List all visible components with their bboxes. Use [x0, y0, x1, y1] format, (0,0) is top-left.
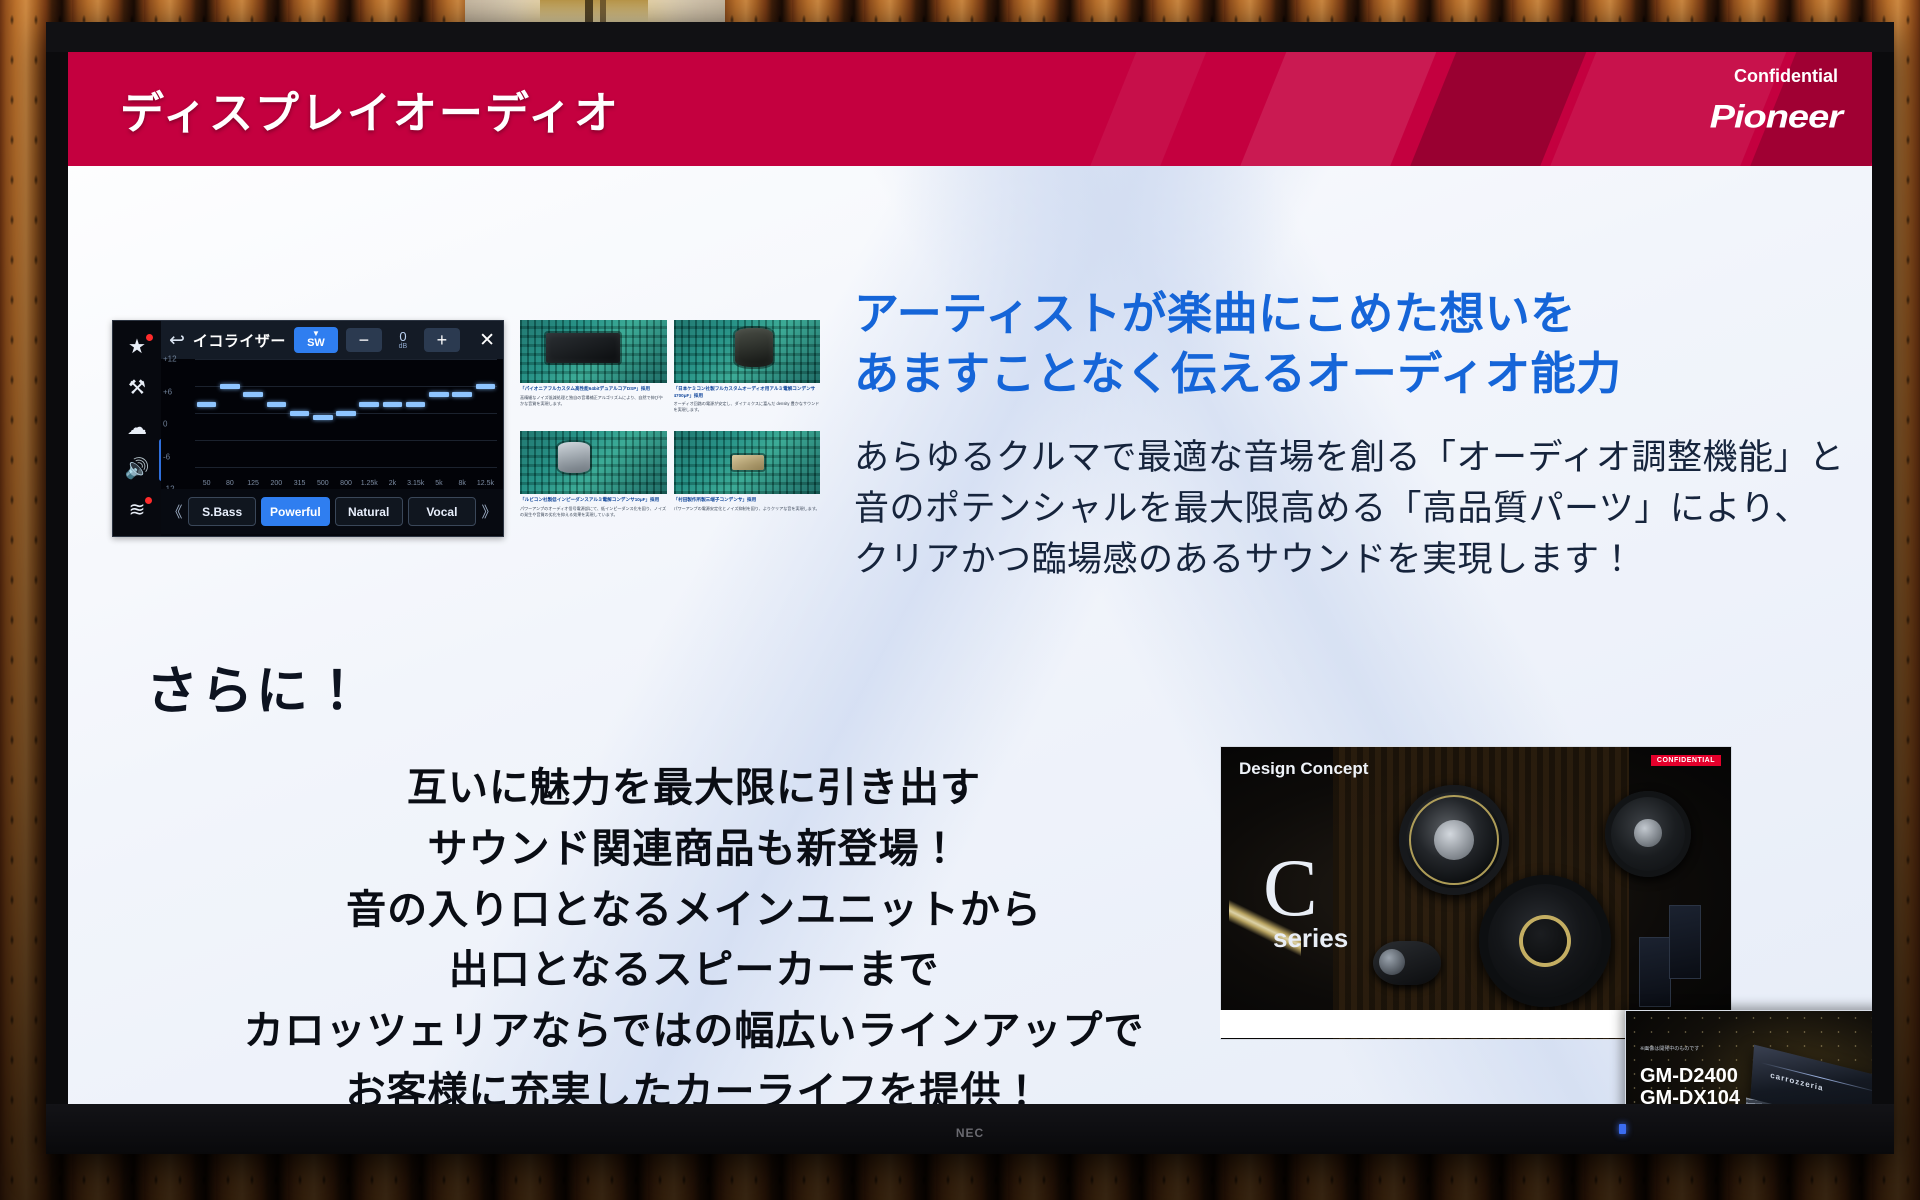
eq-toolbar: ↩ イコライザー ▼ SW − 0 dB +: [161, 321, 503, 359]
bezel-bottom: NEC: [46, 1104, 1894, 1154]
eq-band-handle[interactable]: [267, 402, 287, 407]
eq-band-handle[interactable]: [452, 392, 472, 397]
eq-y-tick: 0: [163, 420, 167, 429]
eq-freq-label: 500: [311, 480, 334, 487]
big-copy-line-2: サウンド関連商品も新登場！: [164, 819, 1224, 880]
presentation-slide: ディスプレイオーディオ Confidential Pioneer ★ ⚒ ☁ 🔊…: [68, 52, 1872, 1104]
eq-band-80[interactable]: [218, 359, 241, 467]
eq-frequency-labels: 50801252003155008001.25k2k3.15k5k8k12.5k: [195, 480, 497, 487]
eq-title: イコライザー: [193, 330, 286, 351]
big-copy-block: 互いに魅力を最大限に引き出すサウンド関連商品も新登場！音の入り口となるメインユニ…: [164, 758, 1224, 1104]
body-copy-line-2: 音のポテンシャルを最大限高める「高品質パーツ」により、: [854, 483, 1864, 534]
display-brand-label: NEC: [956, 1126, 984, 1140]
eq-band-handle[interactable]: [313, 415, 333, 420]
pioneer-logo: Pioneer: [1710, 99, 1842, 136]
eq-preset-s-bass[interactable]: S.Bass: [188, 497, 256, 526]
eq-gridline: [195, 467, 497, 468]
eq-freq-label: 50: [195, 480, 218, 487]
photo-card-4: 「村田製作所製三端子コンデンサ」採用パワーアンプの電源安定化とノイズ抑制を図り、…: [674, 431, 821, 535]
amp-model-2: GM-DX104: [1640, 1087, 1740, 1104]
eq-band-sliders[interactable]: [195, 359, 497, 467]
lead-heading-line-1: アーティストが楽曲にこめた想いを: [854, 284, 1854, 344]
big-copy-line-5: カロッツェリアならではの幅広いラインアップで: [164, 1001, 1224, 1062]
eq-band-handle[interactable]: [336, 411, 356, 416]
section-marker: さらに！: [146, 649, 366, 724]
eq-freq-label: 3.15k: [404, 480, 427, 487]
eq-preset-row[interactable]: 《S.BassPowerfulNaturalVocal》: [161, 489, 503, 534]
speaker-midrange-icon: [1399, 785, 1509, 895]
tweeter-icon: [1373, 941, 1441, 985]
eq-band-800[interactable]: [334, 359, 357, 467]
eq-band-3.15k[interactable]: [404, 359, 427, 467]
photo-body-text: 高精細なノイズ低減処理と独自の音場補正アルゴリズムにより、自然で伸びやかな音質を…: [520, 395, 667, 407]
eq-freq-label: 5k: [427, 480, 450, 487]
eq-band-handle[interactable]: [476, 384, 496, 389]
nec-display: ディスプレイオーディオ Confidential Pioneer ★ ⚒ ☁ 🔊…: [46, 22, 1894, 1154]
circuit-board-photo: [520, 431, 667, 494]
eq-band-handle[interactable]: [197, 402, 217, 407]
subwoofer-label: SW: [294, 338, 338, 350]
design-concept-label: Design Concept: [1239, 759, 1368, 779]
eq-freq-label: 800: [334, 480, 357, 487]
circuit-board-photo: [520, 320, 667, 383]
eq-y-tick: -6: [163, 452, 170, 461]
photo-caption: 「ルビコン社製低インピーダンスアルミ電解コンデンサ10μF」採用: [520, 497, 667, 504]
eq-freq-label: 8k: [451, 480, 474, 487]
photo-caption: 「日本ケミコン社製フルカスタムオーディオ用アルミ電解コンデンサ4700μF」採用: [674, 386, 821, 399]
eq-main-panel: ↩ イコライザー ▼ SW − 0 dB +: [161, 321, 503, 536]
big-copy-line-6: お客様に充実したカーライフを提供！: [164, 1062, 1224, 1104]
eq-freq-label: 80: [218, 480, 241, 487]
eq-unit: dB: [390, 343, 416, 350]
amp-disclaimer: ※画像は開発中のものです: [1640, 1045, 1699, 1052]
c-series-label: series: [1273, 923, 1348, 954]
eq-preset-powerful[interactable]: Powerful: [261, 497, 329, 526]
eq-y-tick: +12: [163, 355, 177, 364]
eq-band-handle[interactable]: [243, 392, 263, 397]
equalizer-screenshot: ★ ⚒ ☁ 🔊 ≋ ↩ イコライザー ▼ SW: [112, 320, 504, 537]
eq-band-handle[interactable]: [406, 402, 426, 407]
eq-freq-label: 200: [265, 480, 288, 487]
eq-band-50[interactable]: [195, 359, 218, 467]
volume-icon[interactable]: 🔊: [125, 459, 150, 479]
big-copy-line-3: 音の入り口となるメインユニットから: [164, 880, 1224, 941]
component-photo-grid: 「パイオニアフルカスタム高性能64bitデュアルコアDSP」採用高精細なノイズ低…: [520, 320, 820, 535]
eq-band-200[interactable]: [265, 359, 288, 467]
circuit-board-photo: [674, 431, 821, 494]
eq-band-2k[interactable]: [381, 359, 404, 467]
photo-body-text: パワーアンプの電源安定化とノイズ抑制を図り、よりクリアな音を実現します。: [674, 506, 821, 512]
circuit-board-photo: [674, 320, 821, 383]
eq-preset-natural[interactable]: Natural: [335, 497, 403, 526]
photo-body-text: オーディオ回路の電源が安定し、ダイナミクスに富んだ density 豊かなサウン…: [674, 401, 821, 413]
eq-band-handle[interactable]: [220, 384, 240, 389]
body-copy-line-1: あらゆるクルマで最適な音場を創る「オーディオ調整機能」と: [854, 432, 1864, 483]
eq-side-rail: ★ ⚒ ☁ 🔊 ≋: [113, 321, 161, 536]
star-icon[interactable]: ★: [128, 337, 146, 357]
bezel-top: [46, 22, 1894, 52]
eq-band-handle[interactable]: [359, 402, 379, 407]
crossover-network-icon-2: [1669, 905, 1701, 979]
amp-model-names: GM-D2400 GM-DX104: [1640, 1065, 1740, 1104]
next-preset-icon[interactable]: 》: [481, 501, 497, 522]
back-arrow-icon[interactable]: ↩: [169, 329, 185, 352]
eq-band-12.5k[interactable]: [474, 359, 497, 467]
eq-band-125[interactable]: [241, 359, 264, 467]
body-copy-line-3: クリアかつ臨場感のあるサウンドを実現します！: [854, 534, 1864, 585]
decrement-button[interactable]: −: [346, 328, 382, 352]
subwoofer-channel-button[interactable]: ▼ SW: [294, 327, 338, 353]
photo-card-3: 「ルビコン社製低インピーダンスアルミ電解コンデンサ10μF」採用パワーアンプのオ…: [520, 431, 667, 535]
eq-graph[interactable]: 50801252003155008001.25k2k3.15k5k8k12.5k…: [161, 359, 503, 489]
eq-freq-label: 315: [288, 480, 311, 487]
page-title: ディスプレイオーディオ: [120, 77, 620, 141]
photo-scene: ディスプレイオーディオ Confidential Pioneer ★ ⚒ ☁ 🔊…: [0, 0, 1920, 1200]
crossover-network-icon: [1639, 937, 1671, 1007]
eye-icon[interactable]: ☁: [127, 418, 147, 438]
eq-freq-label: 12.5k: [474, 480, 497, 487]
eq-y-tick: +6: [163, 387, 172, 396]
eq-band-5k[interactable]: [427, 359, 450, 467]
photo-body-text: パワーアンプのオーディオ信号電源部にて、低インピーダンス化を図り、ノイズの発生や…: [520, 506, 667, 518]
eq-band-315[interactable]: [288, 359, 311, 467]
signal-icon[interactable]: ≋: [129, 500, 146, 520]
screen-area: ディスプレイオーディオ Confidential Pioneer ★ ⚒ ☁ 🔊…: [68, 52, 1872, 1104]
confidential-label: Confidential: [1734, 66, 1838, 87]
eq-freq-label: 1.25k: [358, 480, 381, 487]
eq-preset-vocal[interactable]: Vocal: [408, 497, 476, 526]
speaker-woofer-icon: [1479, 875, 1611, 1007]
eq-band-handle[interactable]: [429, 392, 449, 397]
amplifier-product-image: ※画像は開発中のものです GM-D2400 GM-DX104 CLASS D 4…: [1625, 1010, 1872, 1104]
photo-caption: 「パイオニアフルカスタム高性能64bitデュアルコアDSP」採用: [520, 386, 667, 393]
eq-band-handle[interactable]: [290, 411, 310, 416]
eq-band-500[interactable]: [311, 359, 334, 467]
c-series-letter: C: [1263, 855, 1318, 921]
increment-button[interactable]: +: [424, 328, 460, 352]
eq-value-readout: 0 dB: [390, 330, 416, 350]
eq-value: 0: [399, 329, 406, 344]
power-led-indicator: [1619, 1124, 1626, 1134]
eq-freq-label: 2k: [381, 480, 404, 487]
body-copy: あらゆるクルマで最適な音場を創る「オーディオ調整機能」と音のポテンシャルを最大限…: [854, 432, 1864, 585]
big-copy-line-1: 互いに魅力を最大限に引き出す: [164, 758, 1224, 819]
amp-model-1: GM-D2400: [1640, 1065, 1740, 1087]
speaker-coaxial-icon: [1605, 791, 1691, 877]
photo-card-1: 「パイオニアフルカスタム高性能64bitデュアルコアDSP」採用高精細なノイズ低…: [520, 320, 667, 424]
photo-caption: 「村田製作所製三端子コンデンサ」採用: [674, 497, 821, 504]
eq-band-8k[interactable]: [451, 359, 474, 467]
eq-freq-label: 125: [241, 480, 264, 487]
close-icon[interactable]: ✕: [479, 329, 495, 352]
lead-heading-line-2: あますことなく伝えるオーディオ能力: [854, 344, 1854, 404]
eq-band-handle[interactable]: [383, 402, 403, 407]
tools-icon[interactable]: ⚒: [128, 378, 146, 398]
prev-preset-icon[interactable]: 《: [167, 501, 183, 522]
slide-header: ディスプレイオーディオ Confidential Pioneer: [68, 52, 1872, 166]
carrozzeria-badge: carrozzeria: [1770, 1071, 1824, 1093]
big-copy-line-4: 出口となるスピーカーまで: [164, 940, 1224, 1001]
lead-heading: アーティストが楽曲にこめた想いを あますことなく伝えるオーディオ能力: [854, 284, 1854, 404]
c-series-product-image: Design Concept CONFIDENTIAL C series ※画像…: [1220, 746, 1732, 1040]
photo-card-2: 「日本ケミコン社製フルカスタムオーディオ用アルミ電解コンデンサ4700μF」採用…: [674, 320, 821, 424]
image-gap-spacer: [1220, 1010, 1625, 1038]
eq-band-1.25k[interactable]: [358, 359, 381, 467]
cs-confidential-badge: CONFIDENTIAL: [1651, 755, 1721, 766]
